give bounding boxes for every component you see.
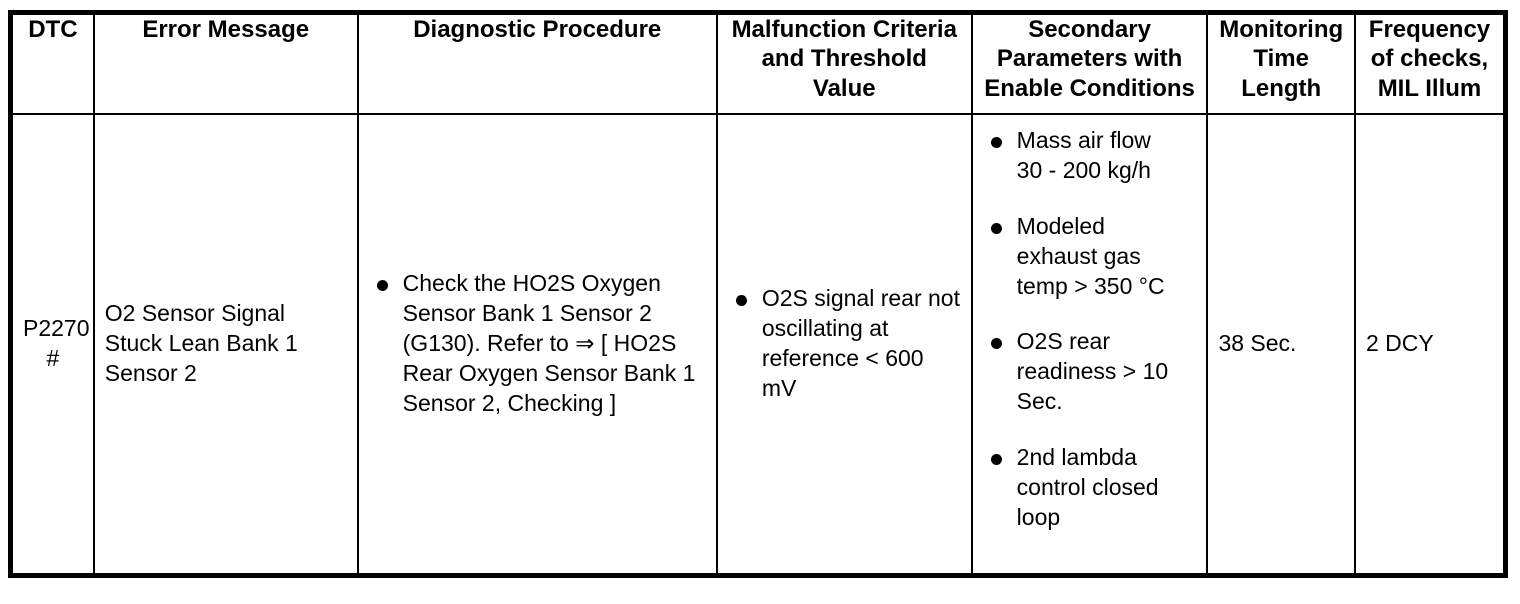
cell-diagnostic-procedure: Check the HO2S Oxygen Sensor Bank 1 Sens… [358, 114, 717, 576]
page-root: DTC Error Message Diagnostic Procedure M… [0, 0, 1520, 604]
malfunction-criteria-content: O2S signal rear not oscillating at refer… [718, 115, 971, 573]
table-header: DTC Error Message Diagnostic Procedure M… [11, 13, 1506, 115]
column-header-dtc-label: DTC [13, 15, 93, 44]
column-header-frequency: Frequency of checks, MIL Illum [1355, 13, 1506, 115]
error-message-text: O2 Sensor Signal Stuck Lean Bank 1 Senso… [95, 115, 357, 573]
secondary-parameters-content: Mass air flow 30 - 200 kg/h Modeled exha… [973, 115, 1207, 573]
column-header-diagnostic-procedure: Diagnostic Procedure [358, 13, 717, 115]
cell-dtc: P2270 # [11, 114, 94, 576]
list-item: Check the HO2S Oxygen Sensor Bank 1 Sens… [373, 269, 706, 418]
table-body: P2270 # O2 Sensor Signal Stuck Lean Bank… [11, 114, 1506, 576]
column-header-error-message-label: Error Message [95, 15, 357, 44]
column-header-malfunction-criteria-label: Malfunction Criteria and Threshold Value [718, 15, 971, 103]
cell-secondary-parameters: Mass air flow 30 - 200 kg/h Modeled exha… [972, 114, 1208, 576]
column-header-monitoring-time: Monitoring Time Length [1207, 13, 1354, 115]
diagnostic-procedure-list: Check the HO2S Oxygen Sensor Bank 1 Sens… [369, 269, 706, 418]
list-item: O2S signal rear not oscillating at refer… [732, 284, 961, 404]
cell-malfunction-criteria: O2S signal rear not oscillating at refer… [717, 114, 972, 576]
column-header-diagnostic-procedure-label: Diagnostic Procedure [359, 15, 716, 44]
cell-monitoring-time: 38 Sec. [1207, 114, 1354, 576]
list-item: Mass air flow 30 - 200 kg/h [987, 126, 1197, 186]
cell-frequency: 2 DCY [1355, 114, 1506, 576]
monitoring-time-value: 38 Sec. [1208, 115, 1353, 573]
list-item: O2S rear readiness > 10 Sec. [987, 327, 1197, 417]
secondary-parameters-list: Mass air flow 30 - 200 kg/h Modeled exha… [983, 126, 1197, 533]
cell-error-message: O2 Sensor Signal Stuck Lean Bank 1 Senso… [94, 114, 358, 576]
header-row: DTC Error Message Diagnostic Procedure M… [11, 13, 1506, 115]
list-item: Modeled exhaust gas temp > 350 °C [987, 212, 1197, 302]
diagnostic-procedure-content: Check the HO2S Oxygen Sensor Bank 1 Sens… [359, 115, 716, 573]
dtc-diagnostic-table: DTC Error Message Diagnostic Procedure M… [8, 10, 1508, 578]
column-header-monitoring-time-label: Monitoring Time Length [1208, 15, 1353, 103]
dtc-code: P2270 # [13, 115, 93, 573]
frequency-value: 2 DCY [1356, 115, 1503, 573]
column-header-frequency-label: Frequency of checks, MIL Illum [1356, 15, 1503, 103]
column-header-secondary-parameters-label: Secondary Parameters with Enable Conditi… [973, 15, 1207, 103]
column-header-error-message: Error Message [94, 13, 358, 115]
table-row: P2270 # O2 Sensor Signal Stuck Lean Bank… [11, 114, 1506, 576]
column-header-dtc: DTC [11, 13, 94, 115]
column-header-secondary-parameters: Secondary Parameters with Enable Conditi… [972, 13, 1208, 115]
list-item: 2nd lambda control closed loop [987, 443, 1197, 533]
column-header-malfunction-criteria: Malfunction Criteria and Threshold Value [717, 13, 972, 115]
malfunction-criteria-list: O2S signal rear not oscillating at refer… [728, 284, 961, 404]
